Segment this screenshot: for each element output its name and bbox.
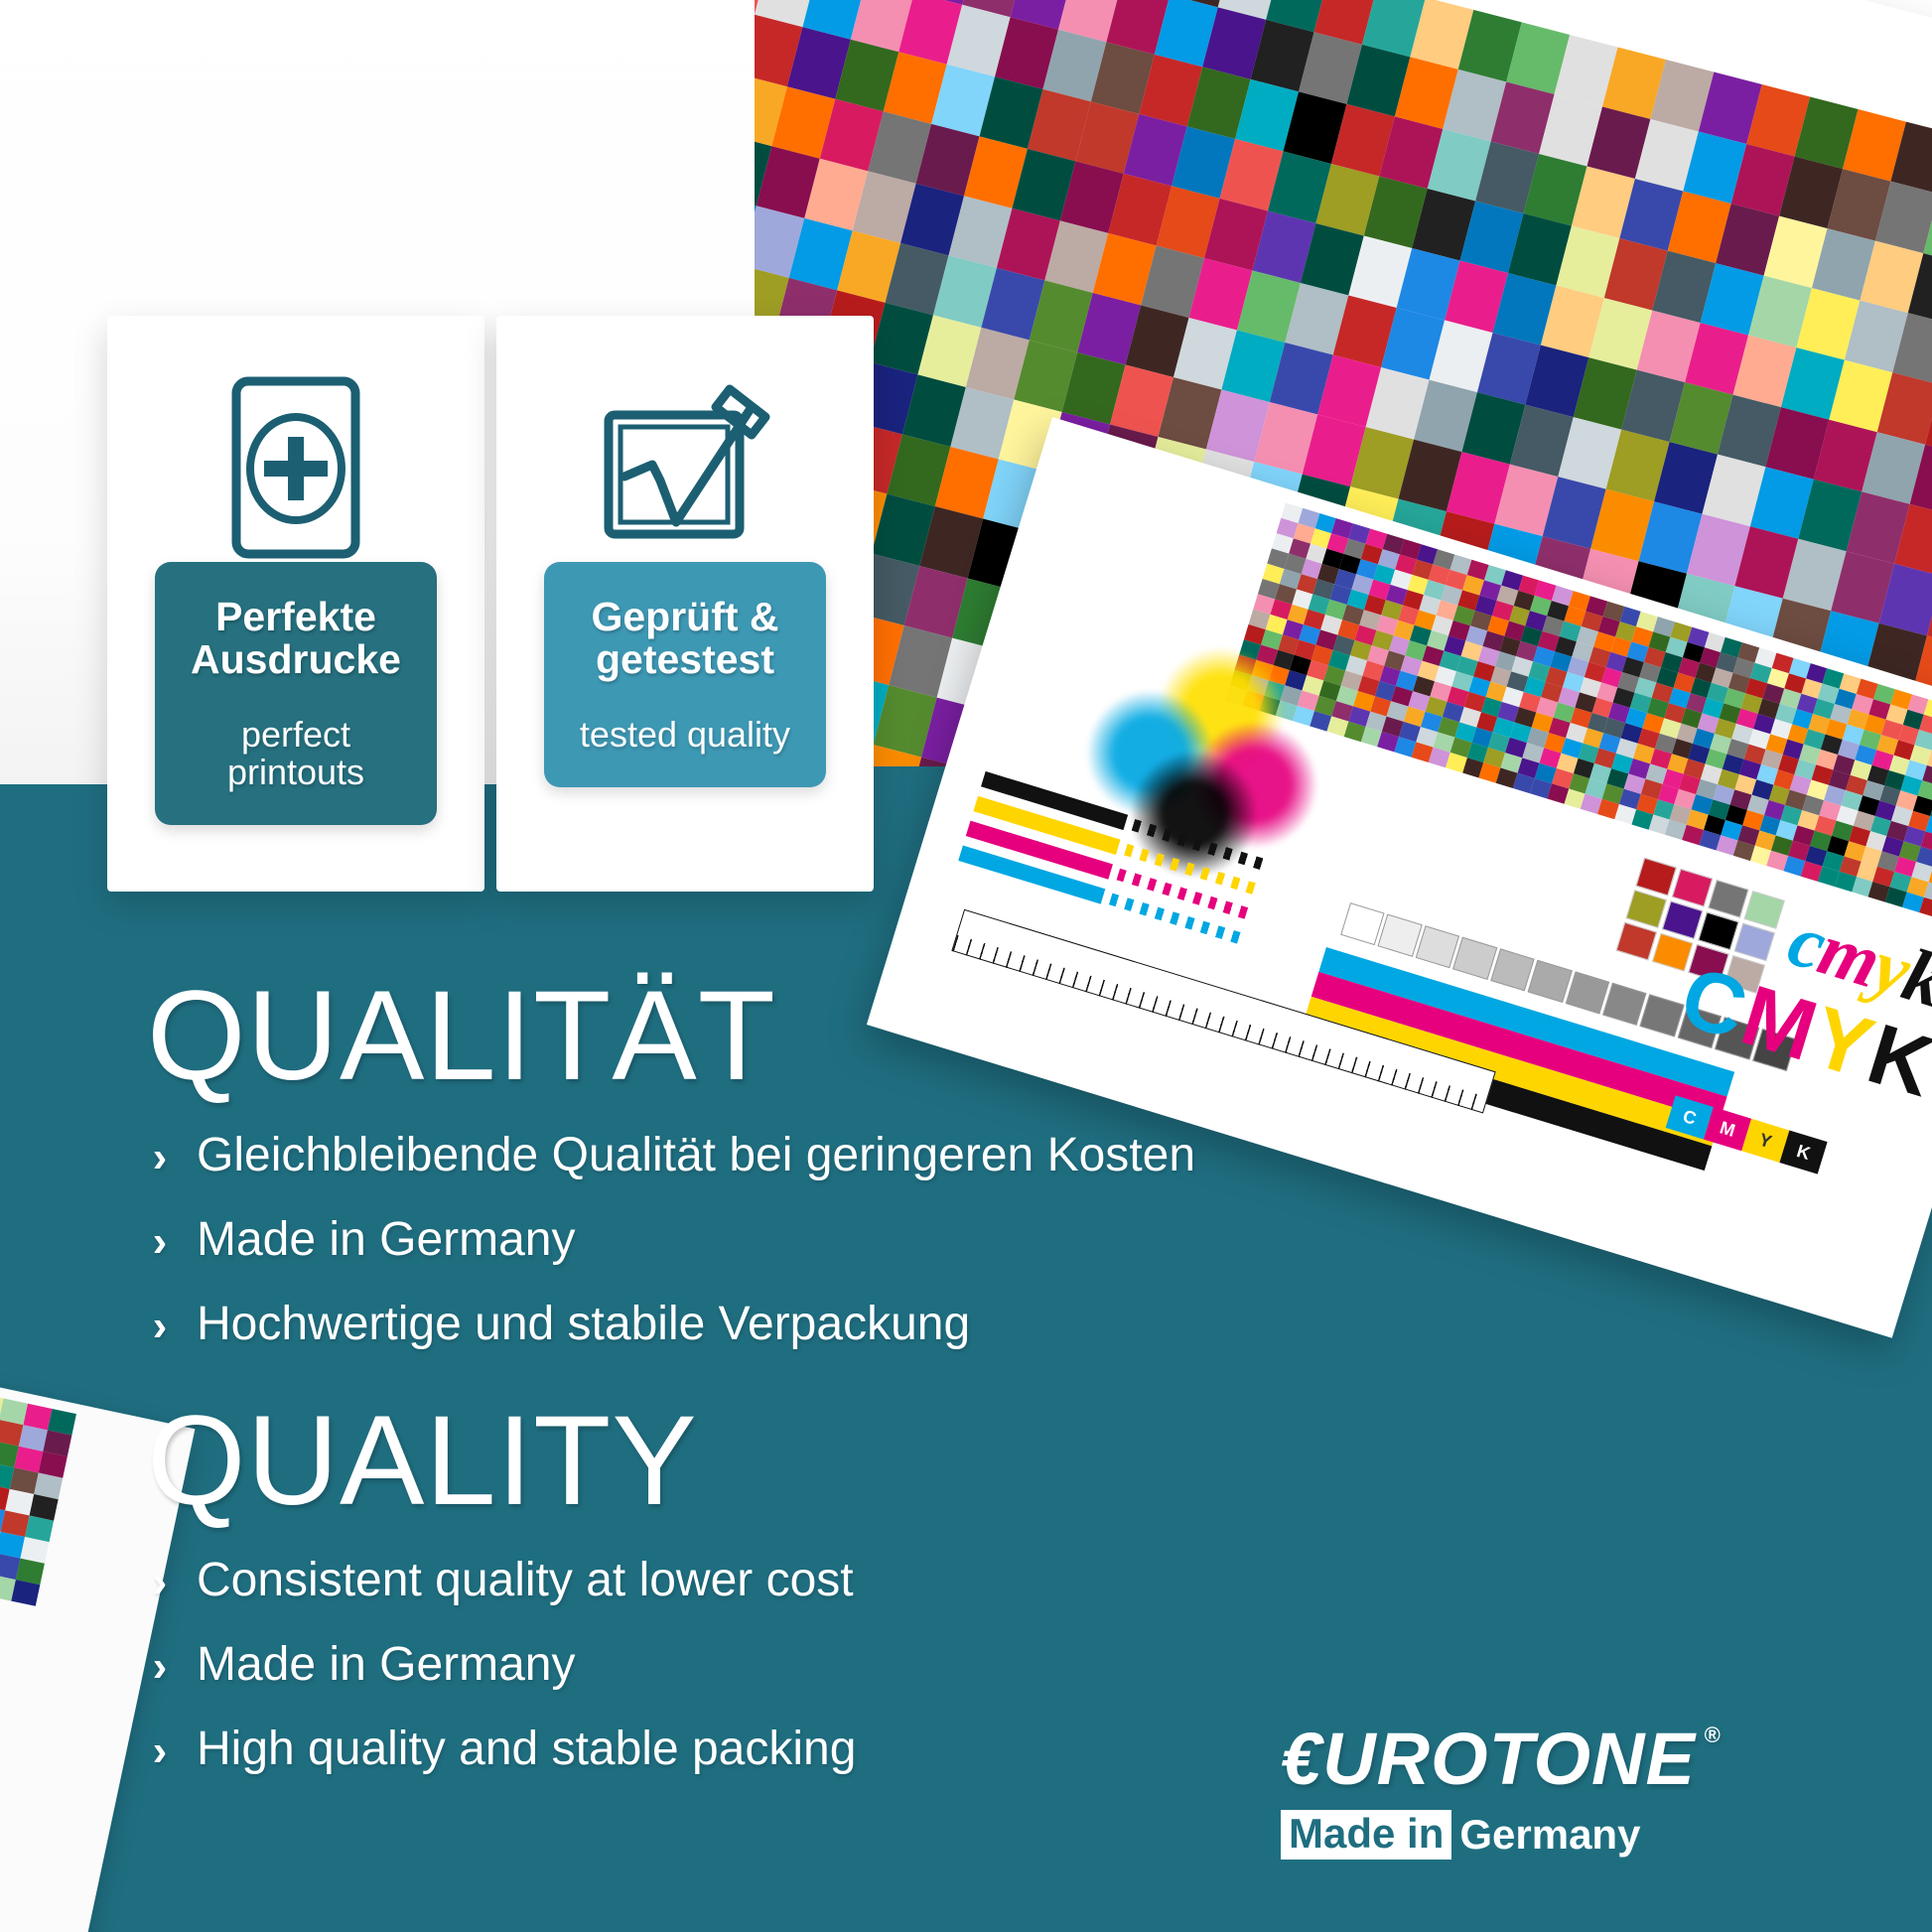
bullet-list-english: › Consistent quality at lower cost › Mad… [147,1555,856,1775]
logo-brand-wordmark: €UROTONE ® [1281,1723,1696,1796]
card-one-title-de: Perfekte Ausdrucke [165,596,427,682]
logo-brand-text: €UROTONE [1281,1718,1696,1800]
chevron-right-icon: › [147,1645,173,1689]
bullet-text: Consistent quality at lower cost [197,1555,854,1607]
headline-quality: QUALITY [147,1398,856,1525]
card-one-pill: Perfekte Ausdrucke perfect printouts [155,562,437,825]
bullet-text: Made in Germany [197,1214,576,1267]
poster-canvas: C M Y K cmyk CMYK [0,0,1932,1932]
list-item: › High quality and stable packing [147,1724,856,1776]
logo-tagline: Made in Germany [1281,1810,1837,1860]
chevron-right-icon: › [147,1220,173,1264]
bullet-text: High quality and stable packing [197,1724,856,1776]
section-german: QUALITÄT › Gleichbleibende Qualität bei … [147,973,1195,1382]
bullet-text: Hochwertige und stabile Verpackung [197,1299,970,1351]
key-box-k: K [1779,1130,1827,1173]
checkbox-pencil-icon [591,373,779,562]
corner-sheet-grid [0,1373,76,1589]
bullet-text: Gleichbleibende Qualität bei geringeren … [197,1130,1195,1182]
section-english: QUALITY › Consistent quality at lower co… [147,1398,856,1807]
card-two-title-en: tested quality [554,716,816,754]
list-item: › Gleichbleibende Qualität bei geringere… [147,1130,1195,1182]
document-plus-icon [226,373,365,562]
logo-tagline-boxed: Made in [1281,1810,1451,1860]
bullet-list-german: › Gleichbleibende Qualität bei geringere… [147,1130,1195,1350]
card-two-title-de: Geprüft & getestest [554,596,816,682]
headline-qualitaet: QUALITÄT [147,973,1195,1100]
chevron-right-icon: › [147,1729,173,1773]
chevron-right-icon: › [147,1305,173,1348]
bullet-text: Made in Germany [197,1639,576,1692]
card-one-title-en: perfect printouts [165,716,427,791]
chevron-right-icon: › [147,1136,173,1179]
list-item: › Hochwertige und stabile Verpackung [147,1299,1195,1351]
eurotone-logo: €UROTONE ® Made in Germany [1281,1723,1837,1860]
chevron-right-icon: › [147,1561,173,1604]
card-two-pill: Geprüft & getestest tested quality [544,562,826,787]
logo-tagline-plain: Germany [1451,1814,1640,1856]
list-item: › Made in Germany [147,1214,1195,1267]
list-item: › Consistent quality at lower cost [147,1555,856,1607]
feature-card-perfect-printouts[interactable]: Perfekte Ausdrucke perfect printouts [107,316,484,892]
list-item: › Made in Germany [147,1639,856,1692]
feature-card-tested-quality[interactable]: Geprüft & getestest tested quality [496,316,874,892]
registered-mark-icon: ® [1705,1725,1722,1746]
